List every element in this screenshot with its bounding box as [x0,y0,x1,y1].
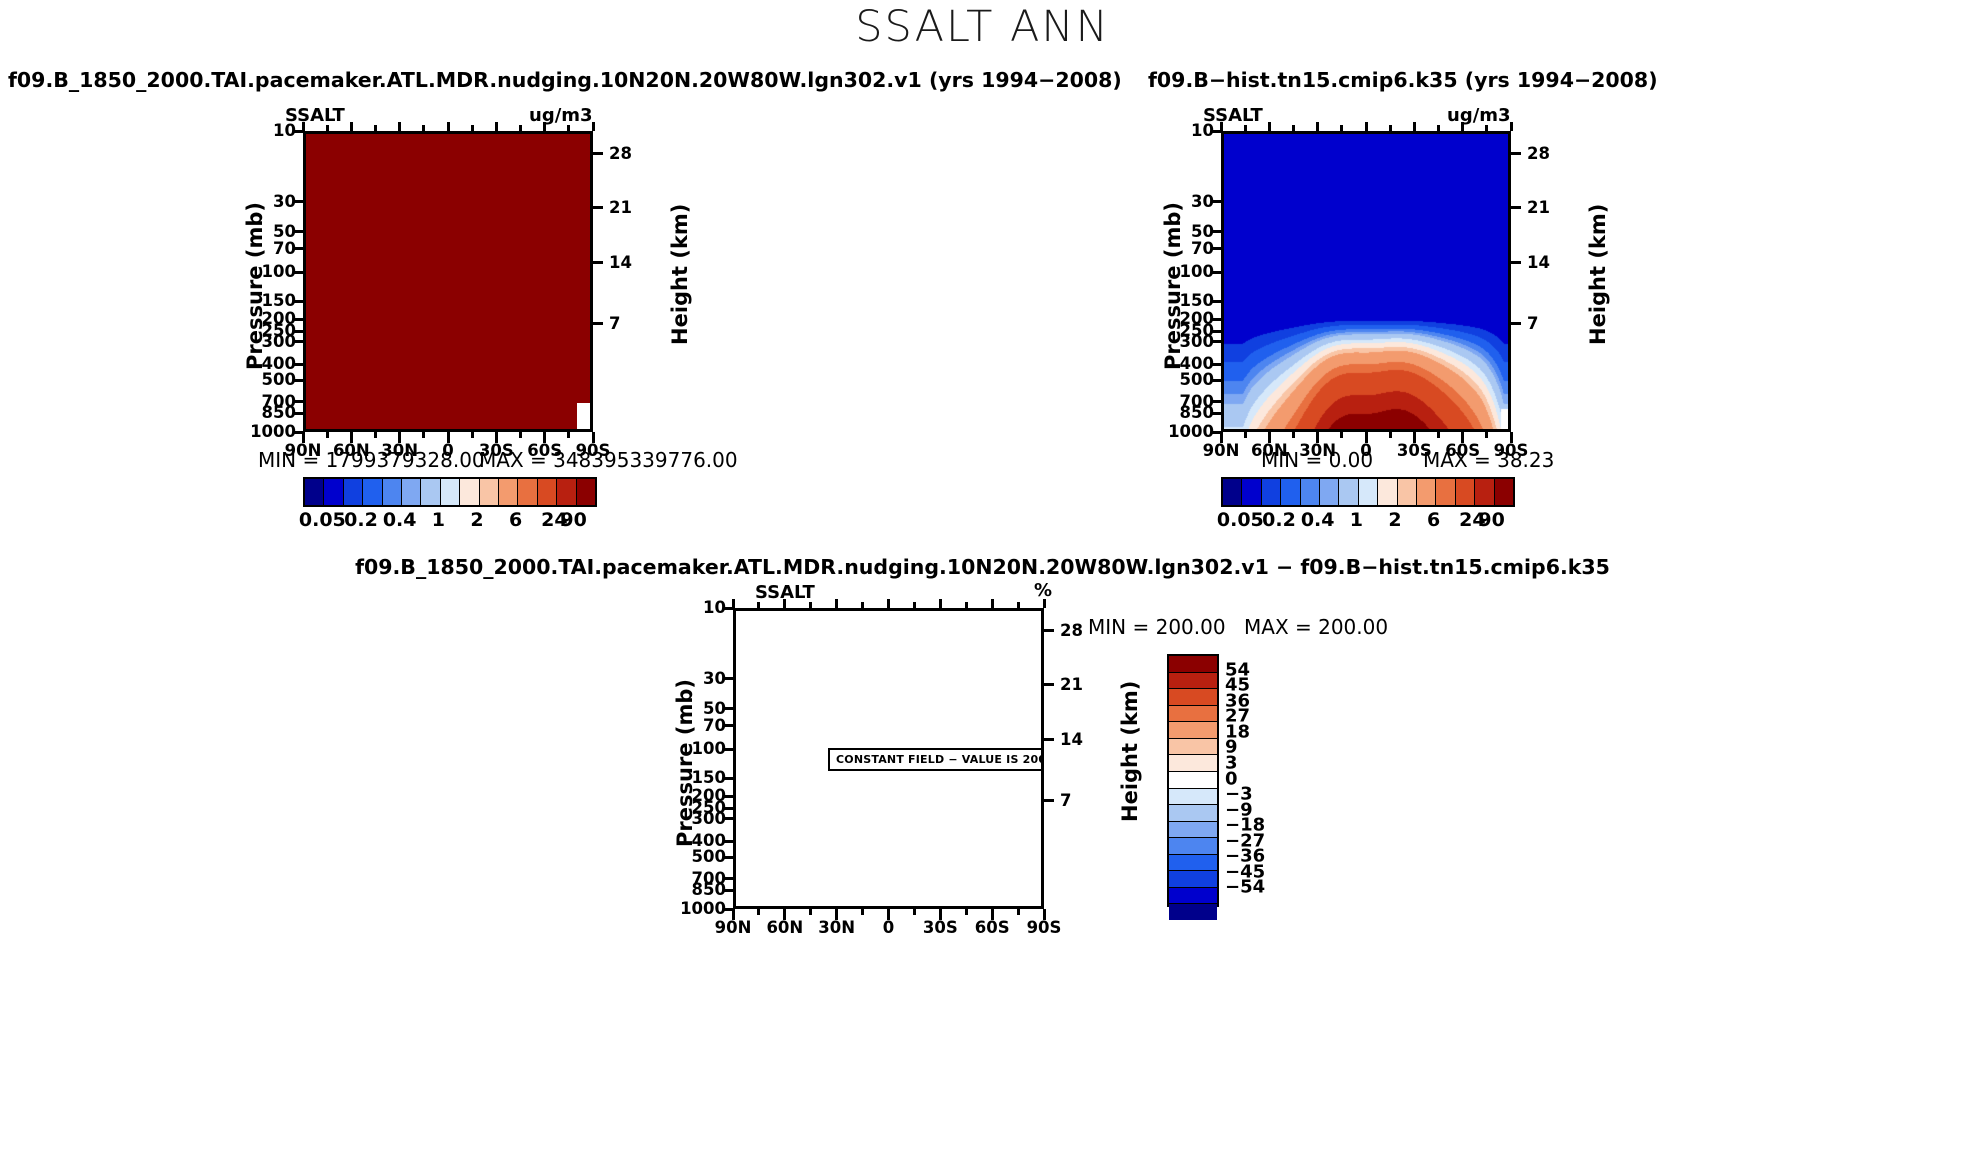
diff-lon-tick-60N: 60N [766,918,803,937]
diff-colorbar-cell-4 [1169,722,1217,739]
right-lon-minor-tickmark-2 [1340,432,1343,438]
left-lon-tickmark-30S [495,432,498,443]
diff-pressure-tick-1000: 1000 [671,899,726,918]
left-lon-tickmark-90N [302,432,305,443]
diff-colorbar-label-14: −54 [1225,877,1265,898]
diff-plot-area: CONSTANT FIELD − VALUE IS 200 [733,608,1044,909]
right-colorbar-cell-3 [1281,479,1300,505]
left-pressure-tick-100: 100 [241,262,296,281]
left-field-gap [577,403,590,429]
right-panel-subtitle: f09.B−hist.tn15.cmip6.k35 (yrs 1994−2008… [1148,68,1658,92]
diff-colorbar-cell-15 [1169,904,1217,920]
left-pressure-tick-50: 50 [241,222,296,241]
left-lon-minor-tickmark-1 [374,432,377,438]
left-height-tickmark-21 [593,206,603,209]
right-lon-tickmark-0 [1365,432,1368,443]
left-colorbar-cell-13 [557,479,576,505]
diff-pressure-tick-500: 500 [671,847,726,866]
right-pressure-tick-10: 10 [1159,121,1214,140]
right-pressure-tick-150: 150 [1159,291,1214,310]
left-lon-top-tickmark-1 [350,122,353,131]
diff-lon-tickmark-30S [939,909,942,920]
right-colorbar-cell-11 [1436,479,1455,505]
right-pressure-tick-300: 300 [1159,332,1214,351]
diff-height-tick-21: 21 [1060,675,1083,694]
diff-lon-tick-0: 0 [883,918,894,937]
right-lon-tick-60S: 60S [1445,441,1480,460]
left-colorbar-label-2: 2 [470,509,483,531]
diff-colorbar-cell-5 [1169,739,1217,756]
page-title: SSALT ANN [0,2,1965,52]
right-pressure-tickmark-70 [1211,247,1221,250]
right-pressure-tick-850: 850 [1159,403,1214,422]
right-colorbar-cell-0 [1223,479,1242,505]
right-pressure-tickmark-500 [1211,379,1221,382]
right-colorbar-cell-4 [1301,479,1320,505]
right-height-tickmark-21 [1511,206,1521,209]
left-lon-tick-0: 0 [442,441,453,460]
left-pressure-tick-150: 150 [241,291,296,310]
diff-lon-top-tickmark-3 [887,599,890,608]
diff-colorbar-cell-3 [1169,706,1217,723]
left-colorbar-cell-4 [383,479,402,505]
right-lon-top-tickmark-0 [1220,122,1223,131]
diff-lon-tick-30N: 30N [818,918,855,937]
diff-pressure-tickmark-30 [723,677,733,680]
left-colorbar-label-0.05: 0.05 [299,509,346,531]
left-colorbar-cell-3 [363,479,382,505]
right-lon-minor-tickmark-3 [1389,432,1392,438]
right-lon-top-minor-tickmark-5 [1485,125,1488,131]
right-lon-top-tickmark-4 [1413,122,1416,131]
diff-lon-tick-90N: 90N [715,918,752,937]
right-lon-top-minor-tickmark-1 [1292,125,1295,131]
left-colorbar-cell-9 [480,479,499,505]
right-lon-tickmark-60S [1461,432,1464,443]
right-lon-top-minor-tickmark-3 [1389,125,1392,131]
right-pressure-tickmark-300 [1211,340,1221,343]
right-lon-top-minor-tickmark-0 [1244,125,1247,131]
left-colorbar-cell-2 [344,479,363,505]
right-lon-tickmark-30S [1413,432,1416,443]
left-field-fill [306,134,590,429]
left-lon-minor-tickmark-0 [326,432,329,438]
right-pressure-tick-1000: 1000 [1159,422,1214,441]
left-lon-tick-90S: 90S [576,441,611,460]
diff-lon-tickmark-60N [783,909,786,920]
left-pressure-tickmark-150 [293,300,303,303]
right-lon-top-minor-tickmark-2 [1340,125,1343,131]
right-lon-tick-30N: 30N [1299,441,1336,460]
right-lon-top-minor-tickmark-4 [1437,125,1440,131]
diff-max-label: MAX = 200.00 [1244,615,1388,639]
right-height-tickmark-28 [1511,152,1521,155]
diff-lon-minor-tickmark-0 [757,909,760,915]
left-height-axis-label: Height (km) [668,204,692,345]
left-lon-tick-30S: 30S [479,441,514,460]
diff-lon-tickmark-0 [887,909,890,920]
left-lon-top-tickmark-5 [543,122,546,131]
left-pressure-tickmark-100 [293,271,303,274]
right-height-tick-21: 21 [1527,198,1550,217]
left-panel-subtitle: f09.B_1850_2000.TAI.pacemaker.ATL.MDR.nu… [8,68,1122,92]
diff-unit-label: % [1034,580,1052,601]
diff-lon-minor-tickmark-5 [1017,909,1020,915]
left-colorbar-label-0.2: 0.2 [344,509,378,531]
right-height-tick-7: 7 [1527,314,1538,333]
left-height-tick-7: 7 [609,314,620,333]
diff-colorbar-cell-12 [1169,855,1217,872]
right-max-label: MAX = 38.23 [1423,448,1554,472]
left-colorbar-cell-10 [499,479,518,505]
diff-panel-subtitle: f09.B_1850_2000.TAI.pacemaker.ATL.MDR.nu… [0,555,1965,579]
left-height-tick-21: 21 [609,198,632,217]
right-pressure-tickmark-850 [1211,412,1221,415]
right-colorbar-label-1: 1 [1350,509,1363,531]
left-pressure-tickmark-50 [293,230,303,233]
diff-lon-minor-tickmark-3 [913,909,916,915]
left-colorbar-cell-5 [402,479,421,505]
left-colorbar-label-90: 90 [560,509,586,531]
left-lon-tickmark-60S [543,432,546,443]
right-pressure-tickmark-400 [1211,363,1221,366]
left-height-tick-14: 14 [609,253,632,272]
left-pressure-tick-70: 70 [241,239,296,258]
left-colorbar-label-1: 1 [432,509,445,531]
left-lon-minor-tickmark-4 [519,432,522,438]
diff-pressure-tick-850: 850 [671,880,726,899]
diff-min-label: MIN = 200.00 [1088,615,1226,639]
diff-height-axis-label: Height (km) [1118,681,1142,822]
left-lon-tick-30N: 30N [381,441,418,460]
diff-lon-tickmark-30N [835,909,838,920]
diff-pressure-tickmark-850 [723,889,733,892]
diff-pressure-tick-70: 70 [671,716,726,735]
diff-lon-tick-90S: 90S [1027,918,1062,937]
left-unit-label: ug/m3 [529,105,593,126]
right-colorbar-label-0.2: 0.2 [1262,509,1296,531]
right-lon-tick-30S: 30S [1397,441,1432,460]
left-pressure-tick-1000: 1000 [241,422,296,441]
diff-lon-top-minor-tickmark-4 [965,602,968,608]
right-colorbar-label-6: 6 [1427,509,1440,531]
diff-colorbar-cell-13 [1169,871,1217,888]
left-lon-top-minor-tickmark-2 [422,125,425,131]
left-lon-top-tickmark-4 [495,122,498,131]
diff-colorbar-cell-6 [1169,755,1217,772]
right-colorbar-cell-13 [1475,479,1494,505]
left-pressure-tick-30: 30 [241,192,296,211]
right-pressure-tick-100: 100 [1159,262,1214,281]
left-height-tickmark-14 [593,261,603,264]
right-colorbar-label-0.05: 0.05 [1217,509,1264,531]
left-lon-top-tickmark-6 [592,122,595,131]
diff-pressure-tick-50: 50 [671,699,726,718]
left-plot-area [303,131,593,432]
left-colorbar-label-0.4: 0.4 [383,509,417,531]
left-colorbar-cell-6 [421,479,440,505]
right-lon-tick-90S: 90S [1494,441,1529,460]
diff-lon-minor-tickmark-1 [809,909,812,915]
left-lon-tick-60N: 60N [333,441,370,460]
left-lon-top-tickmark-2 [398,122,401,131]
right-lon-top-tickmark-3 [1365,122,1368,131]
diff-lon-minor-tickmark-2 [861,909,864,915]
right-lon-minor-tickmark-1 [1292,432,1295,438]
diff-pressure-tick-10: 10 [671,598,726,617]
diff-height-tick-28: 28 [1060,621,1083,640]
right-lon-tickmark-30N [1316,432,1319,443]
diff-colorbar-cell-1 [1169,673,1217,690]
right-colorbar-label-90: 90 [1478,509,1504,531]
diff-colorbar-cell-2 [1169,689,1217,706]
left-lon-top-tickmark-0 [302,122,305,131]
right-lon-minor-tickmark-4 [1437,432,1440,438]
right-lon-minor-tickmark-5 [1485,432,1488,438]
right-colorbar-label-0.4: 0.4 [1301,509,1335,531]
left-pressure-tickmark-500 [293,379,303,382]
diff-colorbar-cell-14 [1169,888,1217,905]
left-lon-top-minor-tickmark-3 [471,125,474,131]
right-lon-top-tickmark-6 [1510,122,1513,131]
right-colorbar-cell-7 [1359,479,1378,505]
left-pressure-tick-300: 300 [241,332,296,351]
left-pressure-tickmark-300 [293,340,303,343]
right-lon-tickmark-90S [1510,432,1513,443]
left-lon-top-minor-tickmark-5 [567,125,570,131]
diff-colorbar-cell-11 [1169,838,1217,855]
right-pressure-tickmark-150 [1211,300,1221,303]
diff-colorbar-cell-7 [1169,772,1217,789]
right-height-axis-label: Height (km) [1586,204,1610,345]
left-colorbar-label-6: 6 [509,509,522,531]
diff-pressure-tickmark-70 [723,724,733,727]
left-pressure-tickmark-400 [293,363,303,366]
diff-pressure-tick-300: 300 [671,809,726,828]
right-colorbar-cell-1 [1242,479,1261,505]
right-height-tickmark-7 [1511,322,1521,325]
right-lon-top-tickmark-5 [1461,122,1464,131]
right-pressure-tick-30: 30 [1159,192,1214,211]
diff-colorbar[interactable] [1167,654,1219,907]
right-pressure-tick-50: 50 [1159,222,1214,241]
diff-pressure-tick-30: 30 [671,669,726,688]
left-pressure-tickmark-850 [293,412,303,415]
diff-pressure-tickmark-150 [723,777,733,780]
right-unit-label: ug/m3 [1447,105,1511,126]
right-colorbar-cell-9 [1398,479,1417,505]
diff-lon-minor-tickmark-4 [965,909,968,915]
diff-pressure-tickmark-300 [723,817,733,820]
left-lon-tickmark-60N [350,432,353,443]
diff-lon-top-minor-tickmark-3 [913,602,916,608]
diff-lon-top-tickmark-4 [939,599,942,608]
diff-lon-top-tickmark-1 [783,599,786,608]
right-pressure-tickmark-50 [1211,230,1221,233]
diff-lon-top-minor-tickmark-2 [861,602,864,608]
left-colorbar-cell-14 [577,479,595,505]
right-lon-tick-90N: 90N [1203,441,1240,460]
left-colorbar[interactable] [303,477,597,507]
diff-height-tickmark-28 [1044,629,1054,632]
left-lon-top-minor-tickmark-0 [326,125,329,131]
right-plot-area [1221,131,1511,432]
diff-height-tick-7: 7 [1060,791,1071,810]
left-height-tick-28: 28 [609,144,632,163]
left-lon-top-minor-tickmark-1 [374,125,377,131]
diff-lon-top-tickmark-6 [1043,599,1046,608]
right-lon-tick-0: 0 [1360,441,1371,460]
right-lon-tickmark-90N [1220,432,1223,443]
right-colorbar-cell-10 [1417,479,1436,505]
diff-height-tick-14: 14 [1060,730,1083,749]
diff-pressure-tick-150: 150 [671,768,726,787]
left-pressure-tick-10: 10 [241,121,296,140]
right-lon-tick-60N: 60N [1251,441,1288,460]
diff-lon-tick-30S: 30S [923,918,958,937]
right-colorbar-cell-5 [1320,479,1339,505]
left-height-tickmark-28 [593,152,603,155]
right-colorbar-cell-2 [1262,479,1281,505]
diff-colorbar-cell-8 [1169,789,1217,806]
diff-pressure-tickmark-500 [723,856,733,859]
diff-lon-top-tickmark-2 [835,599,838,608]
right-pressure-tickmark-30 [1211,200,1221,203]
right-height-tickmark-14 [1511,261,1521,264]
left-lon-tick-90N: 90N [285,441,322,460]
right-lon-minor-tickmark-0 [1244,432,1247,438]
right-colorbar-cell-8 [1378,479,1397,505]
right-field-heatmap [1224,134,1511,432]
left-colorbar-cell-8 [460,479,479,505]
left-pressure-tickmark-30 [293,200,303,203]
left-pressure-tick-850: 850 [241,403,296,422]
diff-lon-top-minor-tickmark-1 [809,602,812,608]
diff-height-tickmark-21 [1044,683,1054,686]
diff-colorbar-cell-10 [1169,822,1217,839]
diff-pressure-tickmark-50 [723,707,733,710]
right-lon-top-tickmark-1 [1268,122,1271,131]
right-colorbar[interactable] [1221,477,1515,507]
left-height-tickmark-7 [593,322,603,325]
right-colorbar-cell-12 [1456,479,1475,505]
left-lon-tickmark-90S [592,432,595,443]
right-pressure-tick-70: 70 [1159,239,1214,258]
diff-lon-top-tickmark-5 [991,599,994,608]
diff-lon-tickmark-90N [732,909,735,920]
left-colorbar-cell-12 [538,479,557,505]
diff-height-tickmark-7 [1044,799,1054,802]
diff-height-tickmark-14 [1044,738,1054,741]
diff-lon-tick-60S: 60S [975,918,1010,937]
left-lon-top-minor-tickmark-4 [519,125,522,131]
right-height-tick-14: 14 [1527,253,1550,272]
right-lon-tickmark-60N [1268,432,1271,443]
left-colorbar-cell-0 [305,479,324,505]
left-lon-tick-60S: 60S [527,441,562,460]
left-lon-minor-tickmark-2 [422,432,425,438]
diff-lon-tickmark-90S [1043,909,1046,920]
diff-lon-top-tickmark-0 [732,599,735,608]
right-lon-top-tickmark-2 [1316,122,1319,131]
left-colorbar-cell-7 [441,479,460,505]
left-pressure-tick-500: 500 [241,370,296,389]
constant-field-note: CONSTANT FIELD − VALUE IS 200 [828,748,1044,771]
diff-pressure-tickmark-100 [723,748,733,751]
right-height-tick-28: 28 [1527,144,1550,163]
diff-lon-tickmark-60S [991,909,994,920]
right-colorbar-label-2: 2 [1388,509,1401,531]
right-colorbar-cell-14 [1495,479,1513,505]
left-lon-tickmark-0 [447,432,450,443]
left-colorbar-cell-11 [518,479,537,505]
right-colorbar-cell-6 [1339,479,1358,505]
diff-colorbar-cell-0 [1169,656,1217,673]
left-lon-minor-tickmark-5 [567,432,570,438]
diff-pressure-tickmark-400 [723,840,733,843]
left-colorbar-cell-1 [324,479,343,505]
right-pressure-tick-500: 500 [1159,370,1214,389]
right-pressure-tickmark-100 [1211,271,1221,274]
diff-lon-top-minor-tickmark-0 [757,602,760,608]
left-lon-minor-tickmark-3 [471,432,474,438]
diff-lon-top-minor-tickmark-5 [1017,602,1020,608]
diff-colorbar-cell-9 [1169,805,1217,822]
left-lon-top-tickmark-3 [447,122,450,131]
diff-pressure-tick-100: 100 [671,739,726,758]
left-pressure-tickmark-70 [293,247,303,250]
left-lon-tickmark-30N [398,432,401,443]
